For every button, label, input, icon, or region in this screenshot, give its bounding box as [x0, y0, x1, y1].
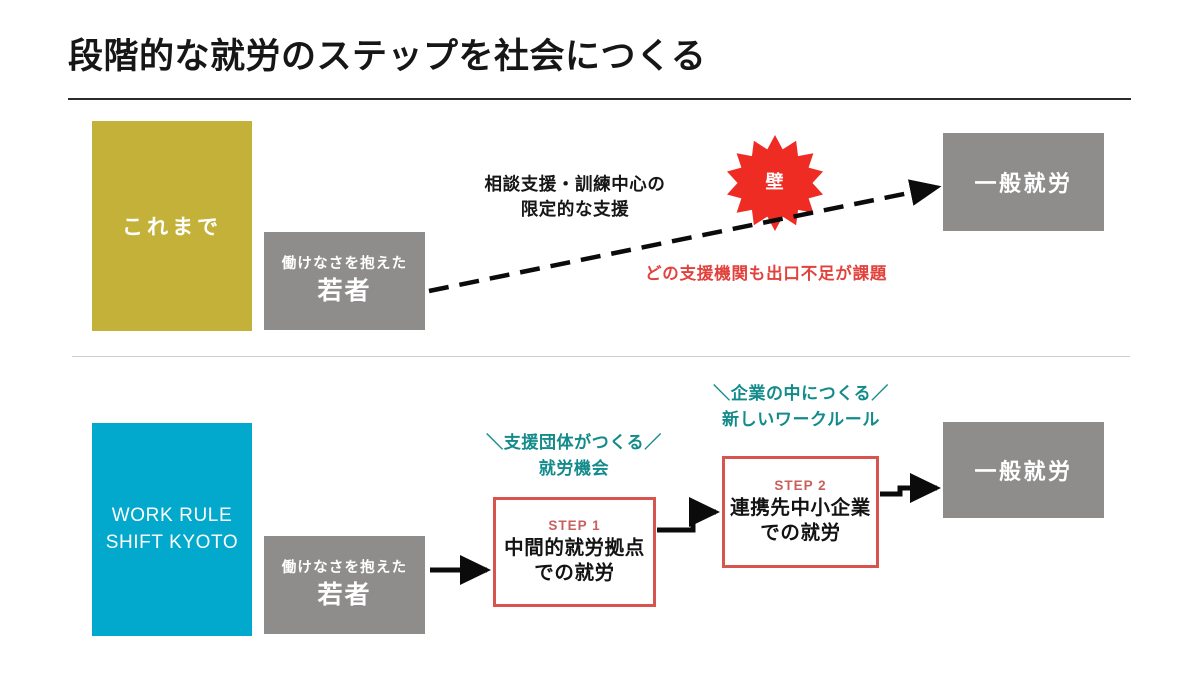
section-divider: [72, 356, 1130, 357]
before-section-label: これまで: [122, 211, 222, 241]
after-section-label-line1: WORK RULE: [112, 503, 232, 530]
arrow-step2-to-goal: [880, 488, 937, 494]
wall-star-label: 壁: [727, 168, 823, 194]
arrow-step1-to-step2: [657, 512, 716, 530]
before-problem-note: どの支援機関も出口不足が課題: [645, 260, 887, 284]
step1-title-line2: での就労: [534, 561, 614, 586]
before-youth-title: 若者: [317, 278, 371, 306]
step1-callout: ＼支援団体がつくる／ 就労機会: [469, 430, 679, 481]
title-underline: [68, 98, 1131, 100]
step2-kicker: STEP 2: [774, 478, 826, 493]
step2-box: STEP 2 連携先中小企業 での就労: [722, 456, 879, 568]
step2-title-line1: 連携先中小企業: [730, 496, 871, 521]
after-goal-box: 一般就労: [943, 422, 1104, 518]
after-youth-subtitle: 働けなさを抱えた: [282, 560, 408, 577]
before-youth-box: 働けなさを抱えた 若者: [264, 232, 425, 330]
step2-callout: ＼企業の中につくる／ 新しいワークルール: [695, 381, 907, 432]
step2-callout-line2: 新しいワークルール: [695, 407, 907, 433]
before-support-note-line1: 相談支援・訓練中心の: [460, 172, 690, 197]
step2-callout-line1: ＼企業の中につくる／: [695, 381, 907, 407]
after-youth-title: 若者: [317, 582, 371, 610]
step1-callout-line2: 就労機会: [469, 456, 679, 482]
after-goal-label: 一般就労: [974, 454, 1072, 486]
step1-kicker: STEP 1: [548, 518, 600, 533]
before-section-panel: これまで: [92, 121, 252, 331]
step1-callout-line1: ＼支援団体がつくる／: [469, 430, 679, 456]
page-title: 段階的な就労のステップを社会につくる: [68, 28, 706, 79]
before-youth-subtitle: 働けなさを抱えた: [282, 256, 408, 273]
after-section-panel: WORK RULE SHIFT KYOTO: [92, 423, 252, 636]
step1-box: STEP 1 中間的就労拠点 での就労: [493, 497, 656, 607]
step2-title-line2: での就労: [760, 521, 840, 546]
after-youth-box: 働けなさを抱えた 若者: [264, 536, 425, 634]
before-goal-box: 一般就労: [943, 133, 1104, 231]
step1-title-line1: 中間的就労拠点: [504, 536, 645, 561]
after-section-label-line2: SHIFT KYOTO: [106, 530, 239, 557]
before-support-note-line2: 限定的な支援: [460, 197, 690, 222]
before-goal-label: 一般就労: [974, 166, 1072, 198]
slide-canvas: 段階的な就労のステップを社会につくる これまで 働けなさを抱えた 若者 相談支援…: [0, 0, 1200, 675]
before-support-note: 相談支援・訓練中心の 限定的な支援: [460, 172, 690, 223]
